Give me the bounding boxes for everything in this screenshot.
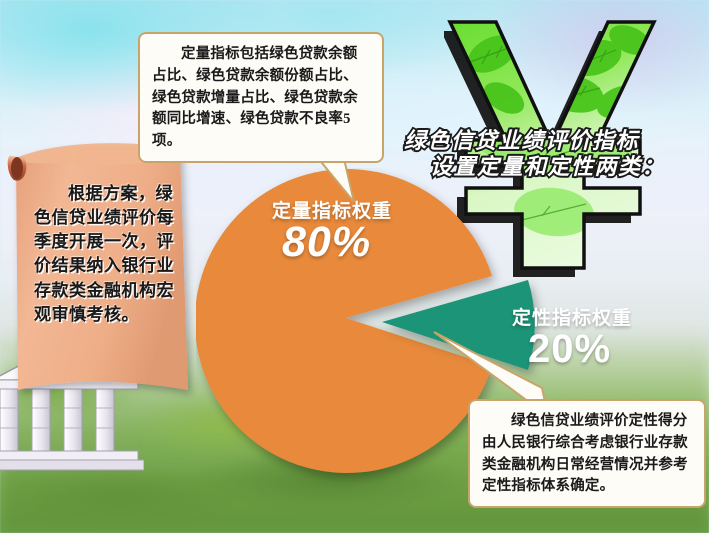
bank-base-2 xyxy=(0,460,144,470)
scroll-roll-hole xyxy=(11,157,23,179)
callout-qualitative-scoring: 绿色信贷业绩评价定性得分由人民银行综合考虑银行业存款类金融机构日常经营情况并参考… xyxy=(468,399,706,508)
callout-bottom-text: 绿色信贷业绩评价定性得分由人民银行综合考虑银行业存款类金融机构日常经营情况并参考… xyxy=(482,411,692,498)
callout-top-text: 定量指标包括绿色贷款余额占比、绿色贷款余额份额占比、绿色贷款增量占比、绿色贷款余… xyxy=(152,44,370,153)
bank-base-1 xyxy=(0,451,138,460)
infographic-canvas: 定量指标权重 80% 定性指标权重 20% 绿色信贷业绩评价指标 设置定量和定性… xyxy=(0,0,709,533)
scroll-text: 根据方案，绿色信贷业绩评价每季度开展一次，评价结果纳入银行业存款类金融机构宏观审… xyxy=(34,182,176,327)
pie-label-quantitative-value: 80% xyxy=(282,218,371,267)
page-title-line-1: 绿色信贷业绩评价指标 xyxy=(404,128,704,154)
page-title-line-2: 设置定量和定性两类： xyxy=(430,154,704,180)
page-title: 绿色信贷业绩评价指标 设置定量和定性两类： xyxy=(404,128,704,196)
pie-label-qualitative-title: 定性指标权重 xyxy=(512,303,632,330)
callout-quantitative-indicators: 定量指标包括绿色贷款余额占比、绿色贷款余额份额占比、绿色贷款增量占比、绿色贷款余… xyxy=(138,32,384,163)
